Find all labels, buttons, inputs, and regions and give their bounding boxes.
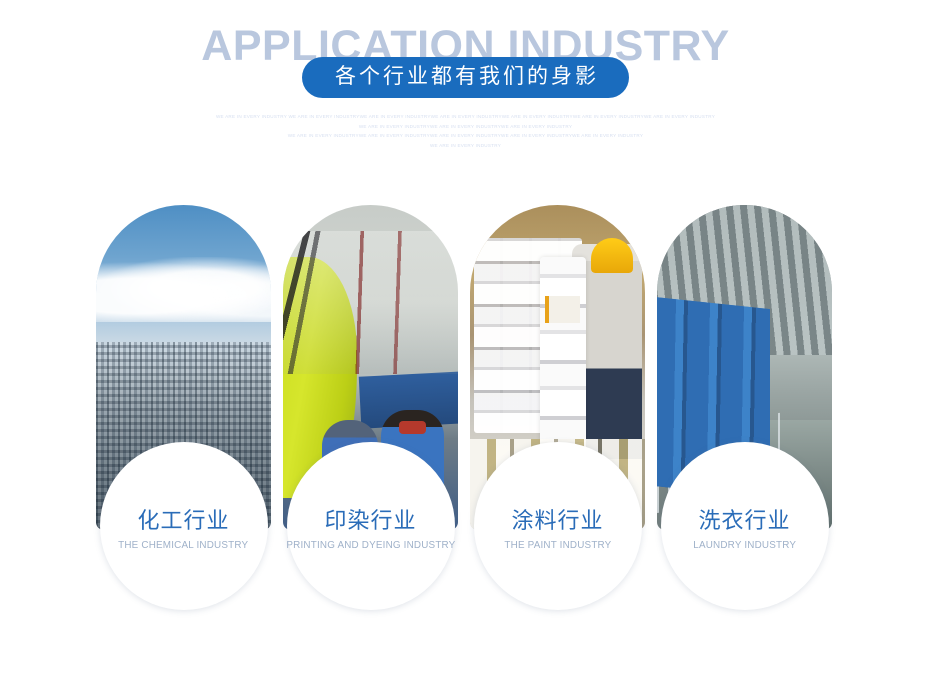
micro-text-line-4: WE ARE IN EVERY INDUSTRY	[0, 141, 931, 151]
card-title-en: LAUNDRY INDUSTRY	[693, 539, 796, 551]
industry-card-row: 化工行业 THE CHEMICAL INDUSTRY 印染行业 PRINTING…	[96, 205, 841, 615]
card-title-cn: 印染行业	[324, 507, 416, 535]
card-title-en: THE CHEMICAL INDUSTRY	[118, 539, 248, 551]
micro-text-line-3: WE ARE IN EVERY INDUSTRYWE ARE IN EVERY …	[0, 131, 931, 141]
industry-card-chemical[interactable]: 化工行业 THE CHEMICAL INDUSTRY	[96, 205, 271, 530]
page-header: APPLICATION INDUSTRY 各个行业都有我们的身影 WE ARE …	[0, 0, 931, 170]
card-label-circle: 印染行业 PRINTING AND DYEING INDUSTRY	[287, 442, 455, 610]
card-title-en: PRINTING AND DYEING INDUSTRY	[286, 539, 455, 551]
industry-card-printing-dyeing[interactable]: 印染行业 PRINTING AND DYEING INDUSTRY	[283, 205, 458, 530]
card-title-cn: 涂料行业	[511, 507, 603, 535]
micro-text-line-1: WE ARE IN EVERY INDUSTRY WE ARE IN EVERY…	[0, 112, 931, 122]
card-label-circle: 洗衣行业 LAUNDRY INDUSTRY	[661, 442, 829, 610]
card-title-en: THE PAINT INDUSTRY	[504, 539, 611, 551]
paint-bucket-stack	[540, 257, 586, 472]
card-label-circle: 涂料行业 THE PAINT INDUSTRY	[474, 442, 642, 610]
badge-container: 各个行业都有我们的身影	[0, 57, 931, 98]
decorative-micro-text: WE ARE IN EVERY INDUSTRY WE ARE IN EVERY…	[0, 112, 931, 150]
micro-text-line-2: WE ARE IN EVERY INDUSTRYWE ARE IN EVERY …	[0, 122, 931, 132]
card-title-cn: 化工行业	[137, 507, 229, 535]
bucket-label	[545, 296, 580, 324]
card-label-circle: 化工行业 THE CHEMICAL INDUSTRY	[100, 442, 268, 610]
industry-card-laundry[interactable]: 洗衣行业 LAUNDRY INDUSTRY	[657, 205, 832, 530]
subtitle-badge: 各个行业都有我们的身影	[302, 57, 629, 98]
card-title-cn: 洗衣行业	[698, 507, 790, 535]
industry-card-paint[interactable]: 涂料行业 THE PAINT INDUSTRY	[470, 205, 645, 530]
hard-hat-icon	[591, 238, 633, 274]
